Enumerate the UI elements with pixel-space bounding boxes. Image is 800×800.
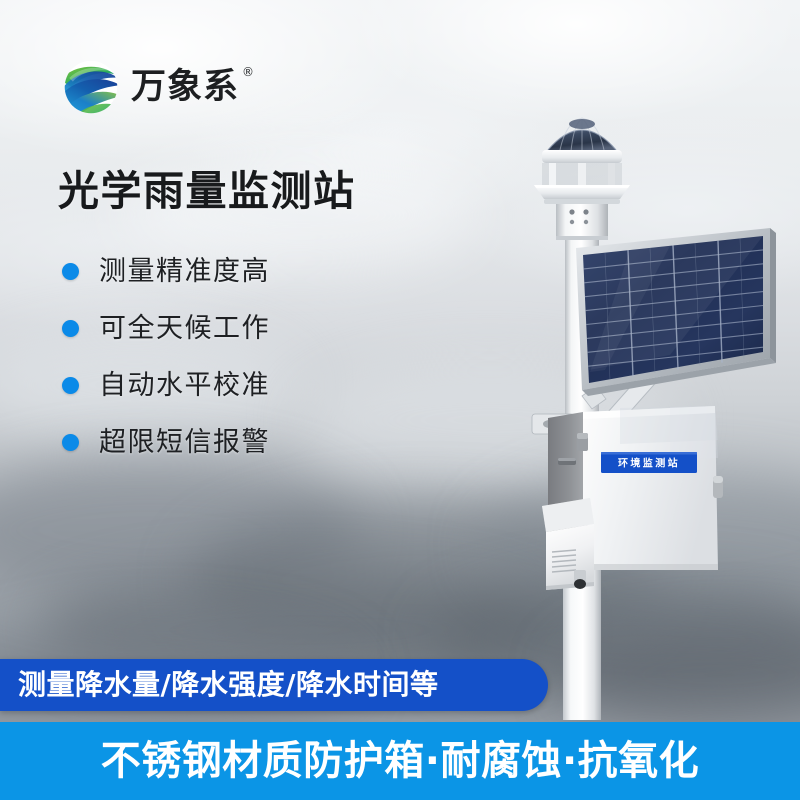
bullet-dot-icon xyxy=(62,434,79,451)
globe-swoosh-logo-icon xyxy=(62,58,120,116)
bullet-dot-icon xyxy=(62,320,79,337)
brand-logo: 万象系® xyxy=(62,58,239,116)
optical-rain-sensor xyxy=(534,118,630,240)
solar-panel xyxy=(576,228,776,396)
bottom-bar-text: 不锈钢材质防护箱·耐腐蚀·抗氧化 xyxy=(101,741,699,781)
bullet-dot-icon xyxy=(62,263,79,280)
feature-list: 测量精准度高 可全天候工作 自动水平校准 超限短信报警 xyxy=(62,258,270,456)
list-item: 测量精准度高 xyxy=(62,258,270,285)
page-title: 光学雨量监测站 xyxy=(58,168,356,215)
enclosure-label-plate: 环境监测站 xyxy=(601,452,697,473)
bullet-dot-icon xyxy=(62,377,79,394)
bottom-bar: 不锈钢材质防护箱·耐腐蚀·抗氧化 xyxy=(0,722,800,800)
feature-label: 测量精准度高 xyxy=(99,258,270,285)
registered-mark: ® xyxy=(242,66,255,78)
pill-banner: 测量降水量/降水强度/降水时间等 xyxy=(0,659,548,711)
feature-label: 超限短信报警 xyxy=(99,429,270,456)
list-item: 可全天候工作 xyxy=(62,315,270,342)
data-logger-box xyxy=(542,498,594,590)
list-item: 超限短信报警 xyxy=(62,429,270,456)
feature-label: 自动水平校准 xyxy=(99,372,270,399)
brand-name: 万象系® xyxy=(131,70,239,105)
pill-banner-text: 测量降水量/降水强度/降水时间等 xyxy=(18,671,438,699)
list-item: 自动水平校准 xyxy=(62,372,270,399)
cable-gland xyxy=(574,570,586,589)
enclosure-label-text: 环境监测站 xyxy=(618,457,680,470)
product-poster: 环境监测站 xyxy=(0,0,800,800)
feature-label: 可全天候工作 xyxy=(99,315,270,342)
equipment-illustration: 环境监测站 xyxy=(470,100,800,720)
